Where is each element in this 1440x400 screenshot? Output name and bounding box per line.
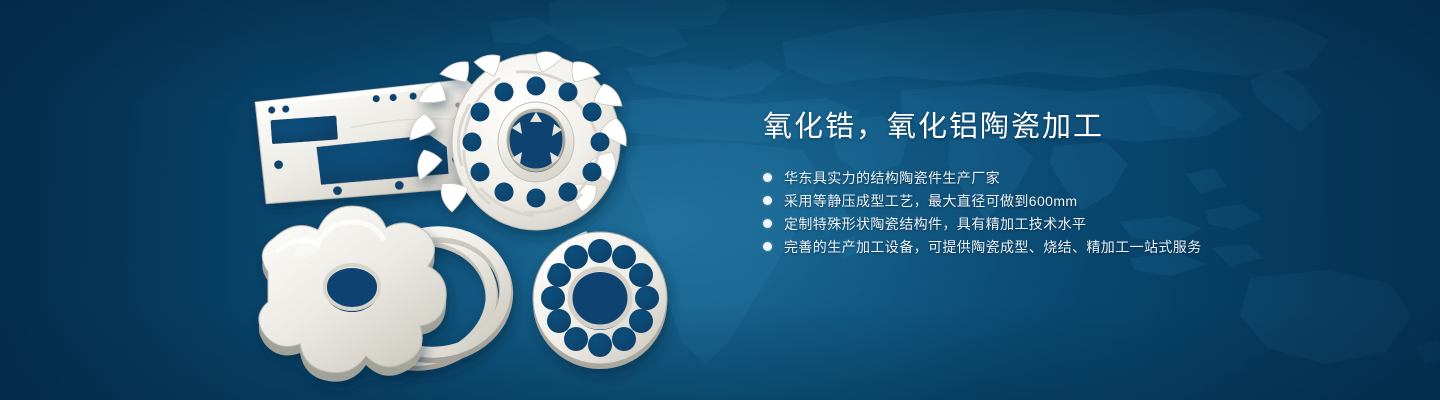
bullet-circle-icon (763, 196, 772, 205)
bullet-circle-icon (763, 173, 772, 182)
list-item: 定制特殊形状陶瓷结构件，具有精加工技术水平 (763, 212, 1363, 235)
bullet-circle-icon (763, 219, 772, 228)
page-title: 氧化锆，氧化铝陶瓷加工 (763, 106, 1363, 148)
list-item: 完善的生产加工设备，可提供陶瓷成型、烧结、精加工一站式服务 (763, 235, 1363, 258)
feature-text: 定制特殊形状陶瓷结构件，具有精加工技术水平 (784, 214, 1086, 234)
product-hero-banner: 氧化锆，氧化铝陶瓷加工 华东具实力的结构陶瓷件生产厂家 采用等静压成型工艺，最大… (0, 0, 1440, 400)
banner-copy-block: 氧化锆，氧化铝陶瓷加工 华东具实力的结构陶瓷件生产厂家 采用等静压成型工艺，最大… (763, 106, 1363, 258)
feature-text: 完善的生产加工设备，可提供陶瓷成型、烧结、精加工一站式服务 (784, 237, 1202, 257)
bullet-circle-icon (763, 242, 772, 251)
feature-text: 采用等静压成型工艺，最大直径可做到600mm (784, 191, 1077, 211)
feature-list: 华东具实力的结构陶瓷件生产厂家 采用等静压成型工艺，最大直径可做到600mm 定… (763, 166, 1363, 258)
feature-text: 华东具实力的结构陶瓷件生产厂家 (784, 168, 1000, 188)
list-item: 采用等静压成型工艺，最大直径可做到600mm (763, 189, 1363, 212)
list-item: 华东具实力的结构陶瓷件生产厂家 (763, 166, 1363, 189)
